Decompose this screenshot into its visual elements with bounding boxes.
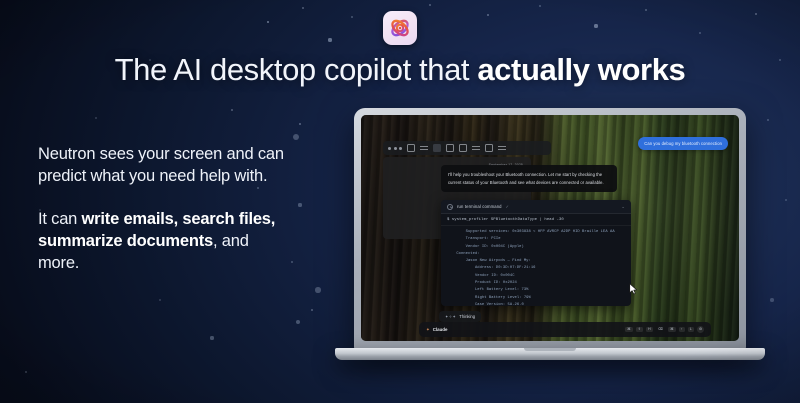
terminal-command: $ system_profiler SPBluetoothDataType | …: [441, 214, 631, 226]
star-dot: [315, 287, 320, 292]
promo-banner: The AI desktop copilot that actually wor…: [0, 0, 800, 403]
star-dot: [770, 298, 774, 302]
copy-paragraph-2: It can write emails, search files, summa…: [38, 208, 284, 275]
star-dot: [311, 309, 313, 311]
dock-brand[interactable]: ✦ Claude: [426, 327, 447, 333]
marketing-copy: Neutron sees your screen and can predict…: [38, 143, 284, 274]
laptop-base: [335, 348, 765, 360]
assistant-message-bubble: I'll help you troubleshoot your Bluetoot…: [441, 165, 617, 192]
shortcut-key[interactable]: H: [646, 327, 653, 332]
laptop-screen: September 17, 2025 Can you debug my blue…: [361, 115, 739, 341]
gear-icon[interactable]: ⚙: [697, 326, 704, 333]
headline-emphasis: actually works: [477, 52, 685, 87]
star-dot: [429, 4, 431, 6]
star-dot: [291, 261, 293, 263]
check-icon: ✓: [506, 204, 510, 209]
headline-prefix: The AI desktop copilot that: [115, 52, 478, 87]
shortcut-key[interactable]: ⌘: [668, 327, 676, 332]
claude-sparkle-icon: ✦: [426, 327, 430, 333]
star-dot: [785, 199, 787, 201]
select-icon[interactable]: [446, 144, 454, 152]
terminal-output: Supported services: 0x303838 < HFP AVRCP…: [441, 226, 631, 306]
laptop-lid: September 17, 2025 Can you debug my blue…: [354, 108, 746, 351]
share-icon[interactable]: [472, 144, 480, 152]
trash-icon[interactable]: [459, 144, 467, 152]
app-logo: [383, 11, 417, 45]
star-dot: [298, 203, 301, 206]
star-dot: [296, 320, 300, 324]
thinking-label: Thinking: [459, 314, 475, 319]
star-dot: [594, 24, 597, 27]
star-dot: [302, 7, 304, 9]
dock-brand-name: Claude: [433, 327, 448, 332]
shortcut-key[interactable]: ⇧: [636, 327, 643, 332]
terminal-card-header[interactable]: run terminal command ✓ ⌄: [441, 200, 631, 214]
laptop-notch: [524, 348, 576, 351]
assistant-dock-bar[interactable]: ✦ Claude ⌘ ⇧ H ⌫ ⌘ ↑ L ⚙: [419, 322, 711, 337]
user-message-bubble: Can you debug my bluetooth connection: [638, 137, 728, 150]
desktop-toolbar[interactable]: [383, 141, 551, 155]
star-dot: [299, 123, 301, 125]
star-dot: [351, 16, 353, 18]
star-dot: [328, 38, 331, 41]
shortcut-key[interactable]: ⌘: [625, 327, 633, 332]
star-dot: [645, 9, 647, 11]
sparkle-icon: ✦✧✦: [445, 314, 456, 319]
star-dot: [539, 5, 541, 7]
shortcut-key[interactable]: ↑: [679, 327, 685, 332]
tag-icon[interactable]: [485, 144, 493, 152]
thinking-indicator: ✦✧✦ Thinking: [439, 311, 481, 322]
shortcut-key[interactable]: L: [688, 327, 694, 332]
star-dot: [159, 299, 161, 301]
copy-paragraph-1: Neutron sees your screen and can predict…: [38, 143, 284, 188]
star-dot: [231, 109, 234, 112]
star-dot: [25, 371, 27, 373]
list-icon[interactable]: [420, 144, 428, 152]
star-dot: [755, 13, 758, 16]
chevron-down-icon[interactable]: ⌄: [621, 204, 625, 210]
mouse-pointer-icon: [629, 283, 638, 295]
tool-label: run terminal command: [457, 204, 502, 209]
copy-p2-lead: It can: [38, 210, 82, 228]
star-dot: [487, 14, 490, 17]
laptop-mockup: September 17, 2025 Can you debug my blue…: [335, 108, 765, 360]
grid-icon[interactable]: [433, 144, 441, 152]
shortcut-key[interactable]: ⌫: [656, 327, 665, 332]
star-dot: [267, 21, 269, 23]
search-icon[interactable]: [498, 144, 506, 152]
star-dot: [293, 134, 299, 140]
page-title: The AI desktop copilot that actually wor…: [0, 52, 800, 88]
terminal-icon: [447, 204, 453, 210]
star-dot: [699, 32, 701, 34]
star-dot: [767, 119, 770, 122]
dock-shortcuts[interactable]: ⌘ ⇧ H ⌫ ⌘ ↑ L ⚙: [625, 326, 704, 333]
star-dot: [95, 117, 97, 119]
star-dot: [210, 336, 213, 339]
terminal-tool-card[interactable]: run terminal command ✓ ⌄ $ system_profil…: [441, 200, 631, 306]
neutron-atom-icon: [383, 11, 417, 45]
window-icon[interactable]: [407, 144, 415, 152]
window-controls-icon[interactable]: [388, 147, 402, 150]
